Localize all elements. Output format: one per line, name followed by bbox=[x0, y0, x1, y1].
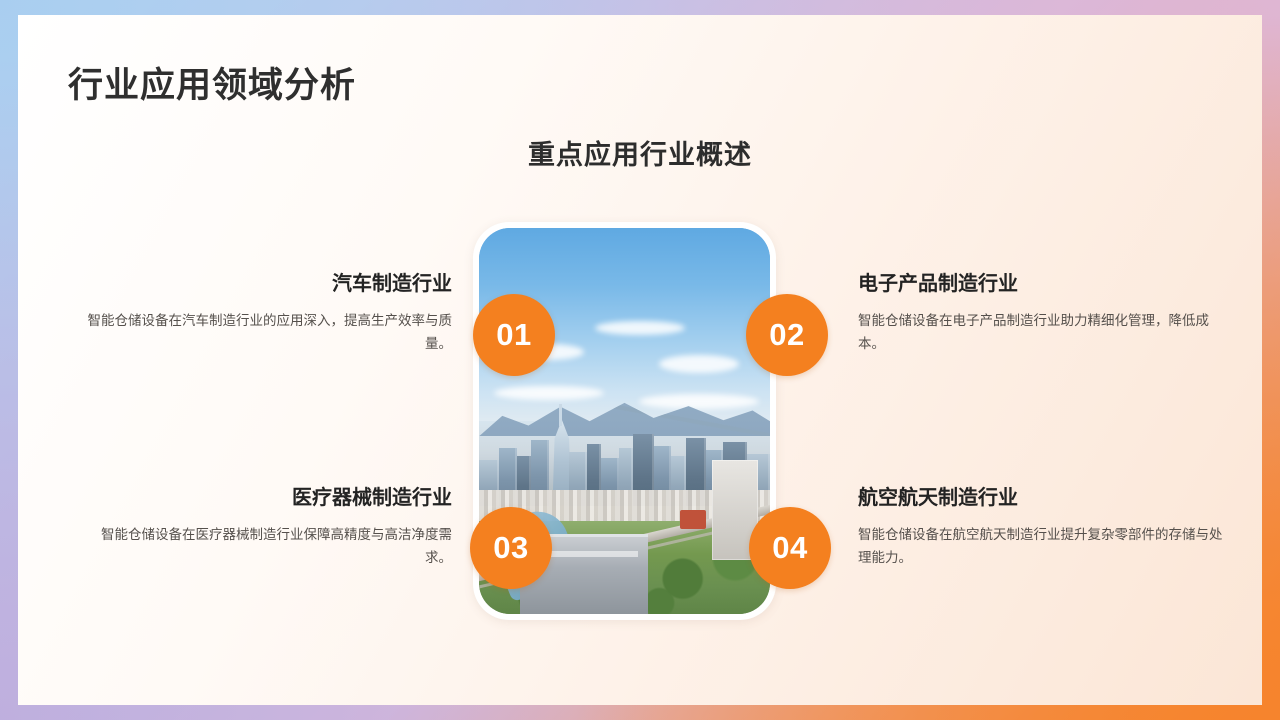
page-title: 行业应用领域分析 bbox=[68, 57, 356, 108]
industry-body-01: 智能仓储设备在汽车制造行业的应用深入，提高生产效率与质量。 bbox=[80, 309, 452, 355]
badge-number-02[interactable]: 02 bbox=[746, 294, 828, 376]
industry-heading-03: 医疗器械制造行业 bbox=[80, 485, 452, 511]
badge-number-03[interactable]: 03 bbox=[470, 507, 552, 589]
industry-item-02: 电子产品制造行业 智能仓储设备在电子产品制造行业助力精细化管理，降低成本。 bbox=[858, 271, 1230, 355]
slide-card: 行业应用领域分析 重点应用行业概述 bbox=[18, 15, 1262, 705]
cloud-shape bbox=[595, 321, 685, 335]
industry-heading-02: 电子产品制造行业 bbox=[858, 271, 1230, 297]
tower-spire bbox=[559, 404, 562, 426]
red-roof-building bbox=[680, 510, 706, 529]
industry-heading-01: 汽车制造行业 bbox=[80, 271, 452, 297]
industry-item-01: 汽车制造行业 智能仓储设备在汽车制造行业的应用深入，提高生产效率与质量。 bbox=[80, 271, 452, 355]
industry-item-03: 医疗器械制造行业 智能仓储设备在医疗器械制造行业保障高精度与高洁净度需求。 bbox=[80, 485, 452, 569]
badge-number-01[interactable]: 01 bbox=[473, 294, 555, 376]
industry-body-03: 智能仓储设备在医疗器械制造行业保障高精度与高洁净度需求。 bbox=[80, 523, 452, 569]
industry-item-04: 航空航天制造行业 智能仓储设备在航空航天制造行业提升复杂零部件的存储与处理能力。 bbox=[858, 485, 1230, 569]
industry-heading-04: 航空航天制造行业 bbox=[858, 485, 1230, 511]
slide-root: 行业应用领域分析 重点应用行业概述 bbox=[0, 0, 1280, 720]
industry-body-04: 智能仓储设备在航空航天制造行业提升复杂零部件的存储与处理能力。 bbox=[858, 523, 1230, 569]
industry-body-02: 智能仓储设备在电子产品制造行业助力精细化管理，降低成本。 bbox=[858, 309, 1230, 355]
badge-number-04[interactable]: 04 bbox=[749, 507, 831, 589]
section-title: 重点应用行业概述 bbox=[18, 133, 1262, 172]
